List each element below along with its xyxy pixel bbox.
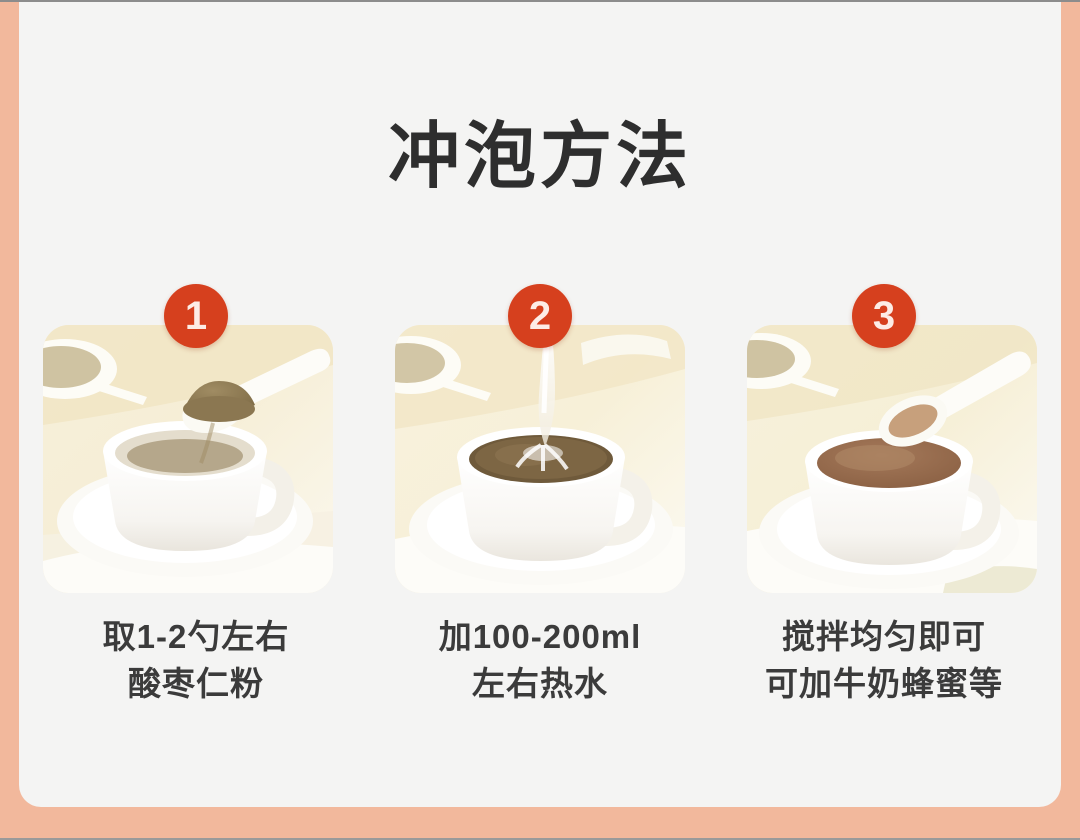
step-caption-2-line1: 加100-200ml <box>387 614 693 661</box>
step-photo-1 <box>43 325 333 593</box>
page-title: 冲泡方法 <box>19 97 1061 202</box>
stirring-brewed-cup-with-spoon-illustration <box>747 325 1037 593</box>
step-number-badge-2: 2 <box>508 284 572 348</box>
step-photo-3 <box>747 325 1037 593</box>
step-caption-1-line1: 取1-2勺左右 <box>43 614 349 661</box>
step-photo-2 <box>395 325 685 593</box>
pouring-hot-water-into-cup-illustration <box>395 325 685 593</box>
step-caption-3-line1: 搅拌均匀即可 <box>731 614 1037 661</box>
step-caption-2: 加100-200ml 左右热水 <box>387 614 693 708</box>
step-caption-3: 搅拌均匀即可 可加牛奶蜂蜜等 <box>731 614 1037 708</box>
step-number-badge-3: 3 <box>852 284 916 348</box>
step-caption-1-line2: 酸枣仁粉 <box>43 661 349 708</box>
step-caption-1: 取1-2勺左右 酸枣仁粉 <box>43 614 349 708</box>
spoon-of-powder-over-cup-illustration <box>43 325 333 593</box>
step-caption-2-line2: 左右热水 <box>387 661 693 708</box>
step-caption-3-line2: 可加牛奶蜂蜜等 <box>731 661 1037 708</box>
content-card: 冲泡方法 1 <box>19 2 1061 807</box>
step-number-badge-1: 1 <box>164 284 228 348</box>
page-frame: 冲泡方法 1 <box>0 0 1080 840</box>
